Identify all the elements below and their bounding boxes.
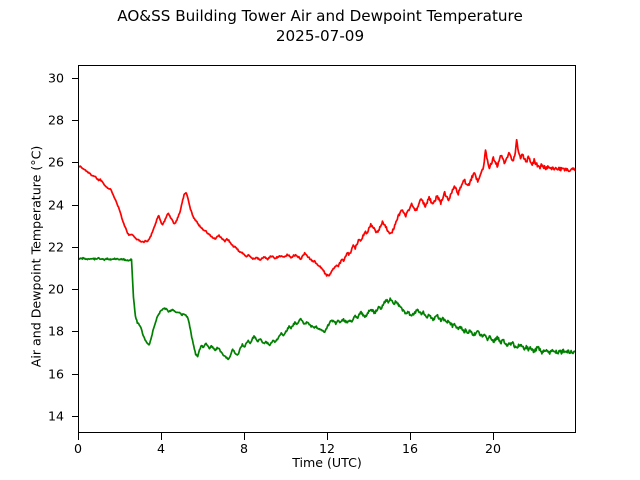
y-tick-label: 30 xyxy=(48,70,64,85)
x-tick-mark xyxy=(410,433,411,440)
plot-area xyxy=(78,65,576,433)
chart-figure: AO&SS Building Tower Air and Dewpoint Te… xyxy=(0,0,640,480)
chart-title-line-1: AO&SS Building Tower Air and Dewpoint Te… xyxy=(0,6,640,26)
y-tick-label: 28 xyxy=(48,112,64,127)
chart-title-line-2: 2025-07-09 xyxy=(0,26,640,46)
x-axis-label: Time (UTC) xyxy=(78,455,576,470)
x-tick-label: 8 xyxy=(240,441,248,456)
dewpoint-temperature-line xyxy=(79,258,575,360)
y-tick-label: 18 xyxy=(48,324,64,339)
y-tick-label: 24 xyxy=(48,197,64,212)
y-tick-label: 14 xyxy=(48,409,64,424)
chart-title: AO&SS Building Tower Air and Dewpoint Te… xyxy=(0,6,640,46)
x-tick-label: 0 xyxy=(74,441,82,456)
x-tick-mark xyxy=(78,433,79,440)
x-tick-label: 20 xyxy=(485,441,501,456)
x-tick-label: 4 xyxy=(157,441,165,456)
y-tick-label: 20 xyxy=(48,282,64,297)
x-tick-label: 12 xyxy=(319,441,335,456)
y-tick-label: 26 xyxy=(48,155,64,170)
x-tick-mark xyxy=(327,433,328,440)
x-tick-mark xyxy=(161,433,162,440)
series-canvas xyxy=(79,66,575,432)
x-tick-mark xyxy=(493,433,494,440)
y-tick-label: 16 xyxy=(48,366,64,381)
y-axis-label: Air and Dewpoint Temperature (°C) xyxy=(29,73,44,441)
air-temperature-line xyxy=(79,140,575,276)
x-tick-mark xyxy=(244,433,245,440)
x-tick-label: 16 xyxy=(402,441,418,456)
y-tick-label: 22 xyxy=(48,239,64,254)
